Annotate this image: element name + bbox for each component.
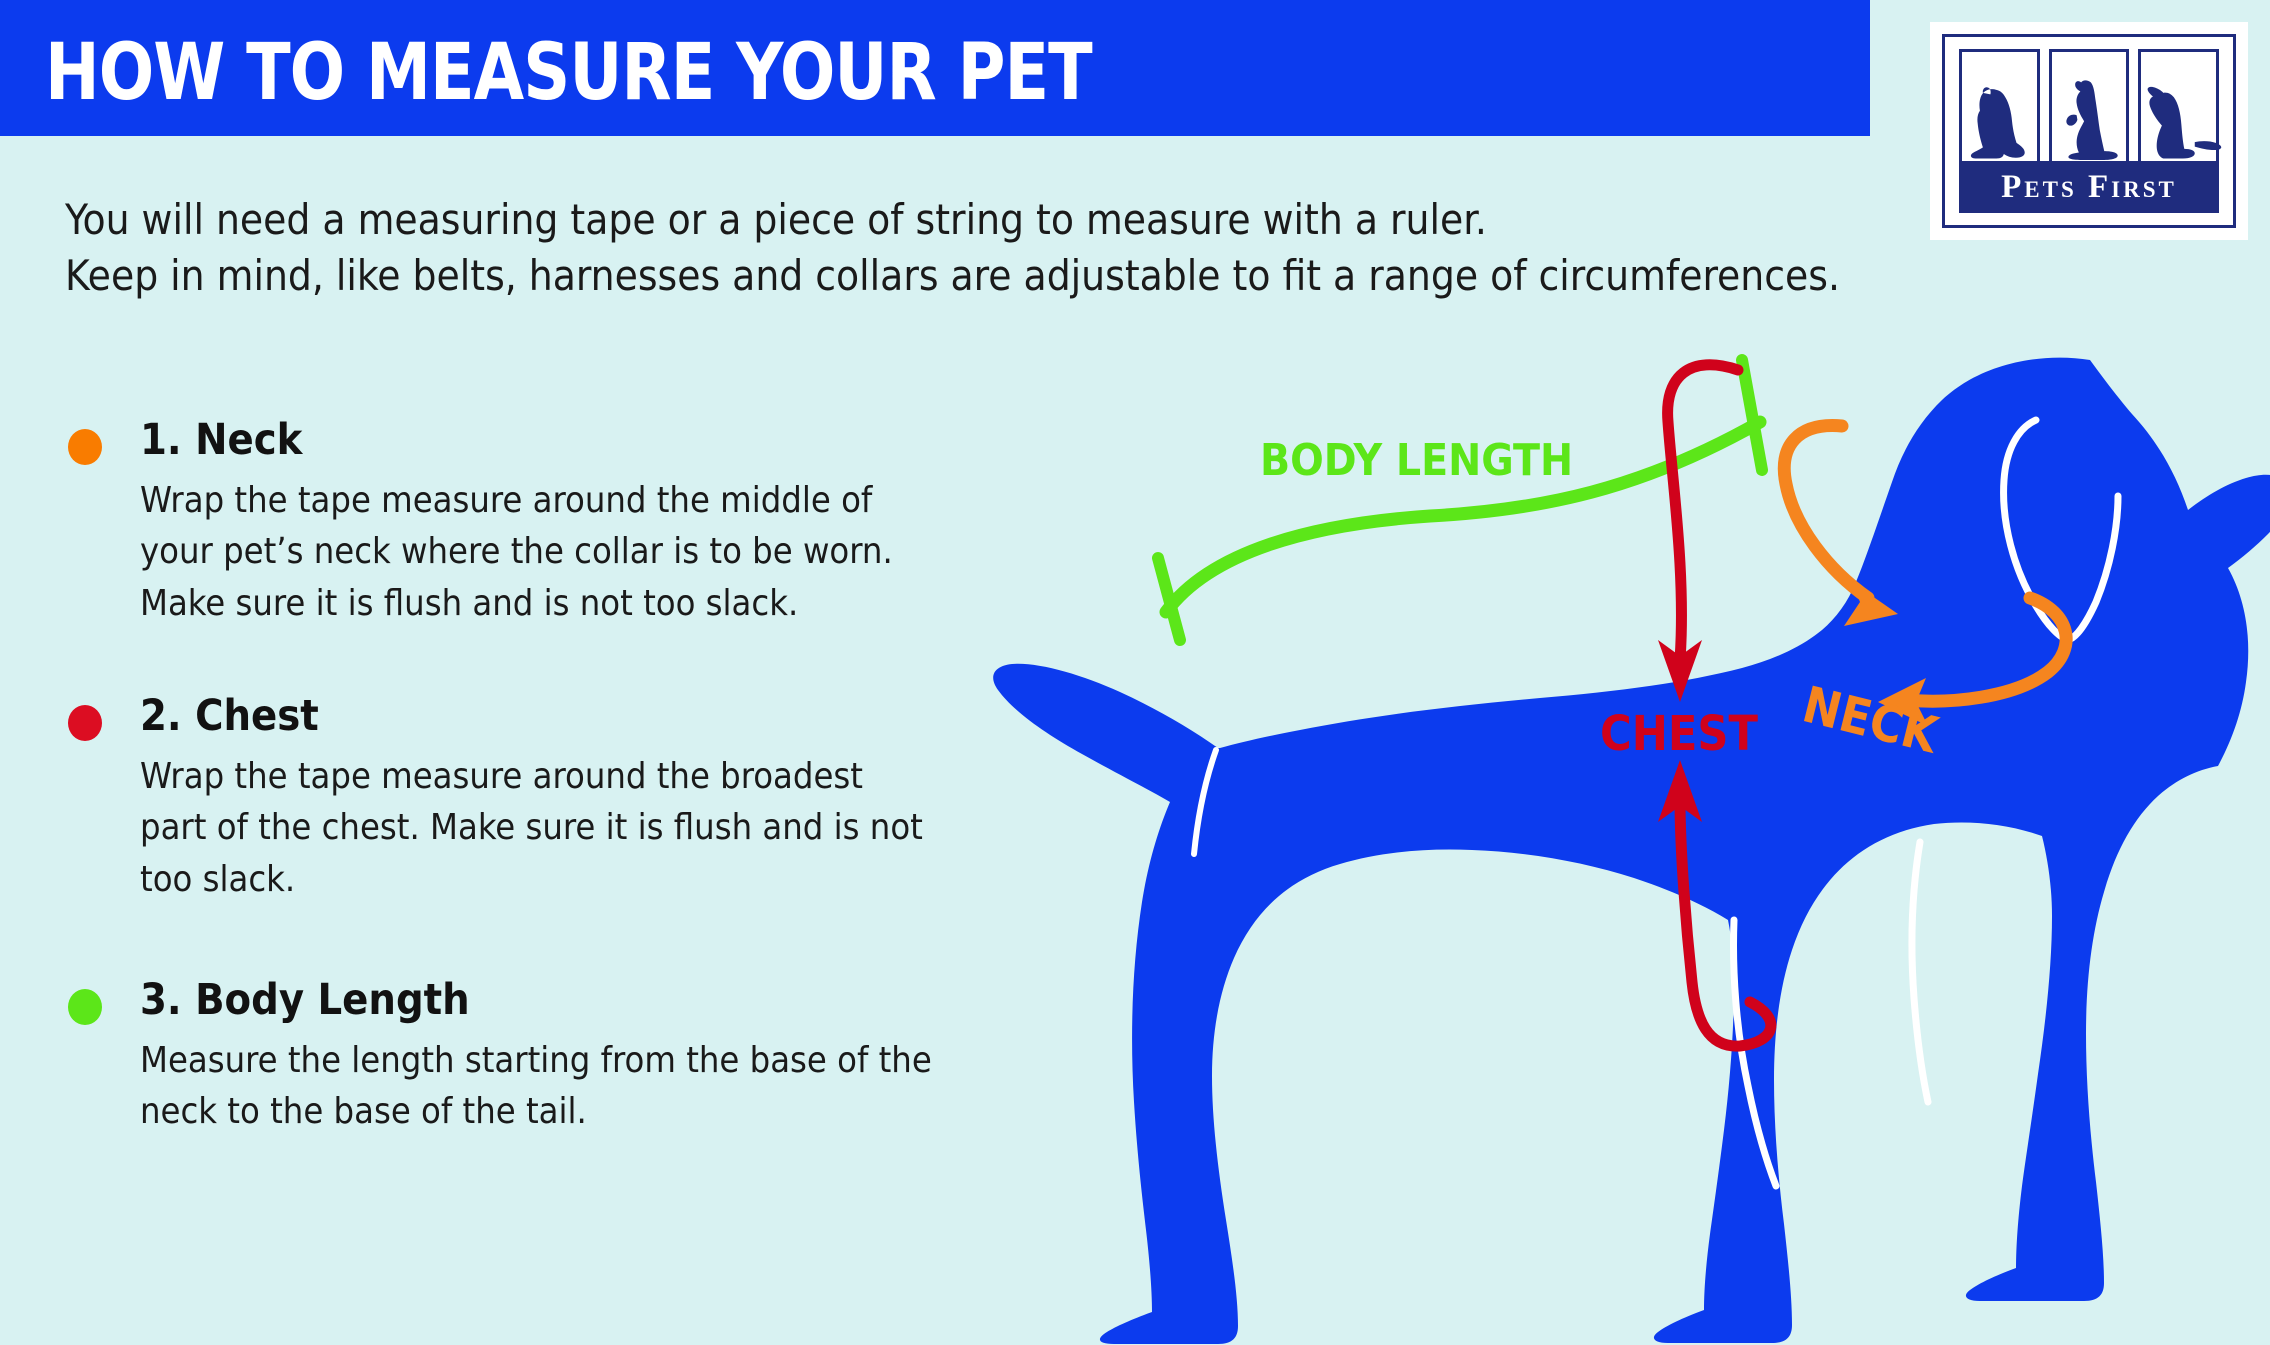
step-body-line: Measure the length starting from the bas…	[140, 1035, 1020, 1086]
step-heading-neck: 1. Neck	[140, 415, 1062, 467]
step-heading-body-length: 3. Body Length	[140, 975, 1062, 1027]
step-body-line: Wrap the tape measure around the middle …	[140, 475, 1020, 526]
step-body-chest: Wrap the tape measure around the broades…	[140, 751, 1020, 905]
step-body-line: your pet’s neck where the collar is to b…	[140, 526, 1020, 577]
front-leg-detail-line-2	[1912, 842, 1928, 1102]
step-body-line: Make sure it is flush and is not too sla…	[140, 578, 1020, 629]
step-body-line: part of the chest. Make sure it is flush…	[140, 802, 1020, 853]
dog-silhouette-icon	[993, 358, 2270, 1344]
measurement-steps-list: 1. Neck Wrap the tape measure around the…	[62, 415, 1062, 1186]
brand-logo[interactable]: Pets First	[1930, 22, 2248, 240]
sitting-dog-silhouette-icon	[1959, 49, 2040, 169]
sitting-shepherd-silhouette-icon	[2138, 49, 2219, 169]
chest-label: CHEST	[1600, 706, 1758, 762]
logo-panel-group	[1959, 49, 2219, 169]
list-item: 2. Chest Wrap the tape measure around th…	[62, 691, 1062, 905]
body-length-label: BODY LENGTH	[1260, 435, 1573, 486]
begging-dog-silhouette-icon	[2049, 49, 2130, 169]
step-body-line: too slack.	[140, 854, 1020, 905]
intro-line-2: Keep in mind, like belts, harnesses and …	[65, 248, 1825, 304]
step-body-neck: Wrap the tape measure around the middle …	[140, 475, 1020, 629]
intro-line-1: You will need a measuring tape or a piec…	[65, 192, 1825, 248]
step-body-line: neck to the base of the tail.	[140, 1086, 1020, 1137]
logo-frame: Pets First	[1942, 34, 2236, 228]
list-item: 1. Neck Wrap the tape measure around the…	[62, 415, 1062, 629]
list-item: 3. Body Length Measure the length starti…	[62, 975, 1062, 1138]
logo-wordmark: Pets First	[1959, 161, 2219, 213]
step-body-body-length: Measure the length starting from the bas…	[140, 1035, 1020, 1138]
step-bullet-body-length	[68, 989, 102, 1025]
intro-paragraph: You will need a measuring tape or a piec…	[65, 192, 1825, 304]
step-bullet-chest	[68, 705, 102, 741]
step-heading-chest: 2. Chest	[140, 691, 1062, 743]
step-bullet-neck	[68, 429, 102, 465]
step-body-line: Wrap the tape measure around the broades…	[140, 751, 1020, 802]
dog-measurement-diagram: BODY LENGTH NECK CHEST	[980, 330, 2270, 1345]
page-title: HOW TO MEASURE YOUR PET	[45, 28, 1092, 118]
